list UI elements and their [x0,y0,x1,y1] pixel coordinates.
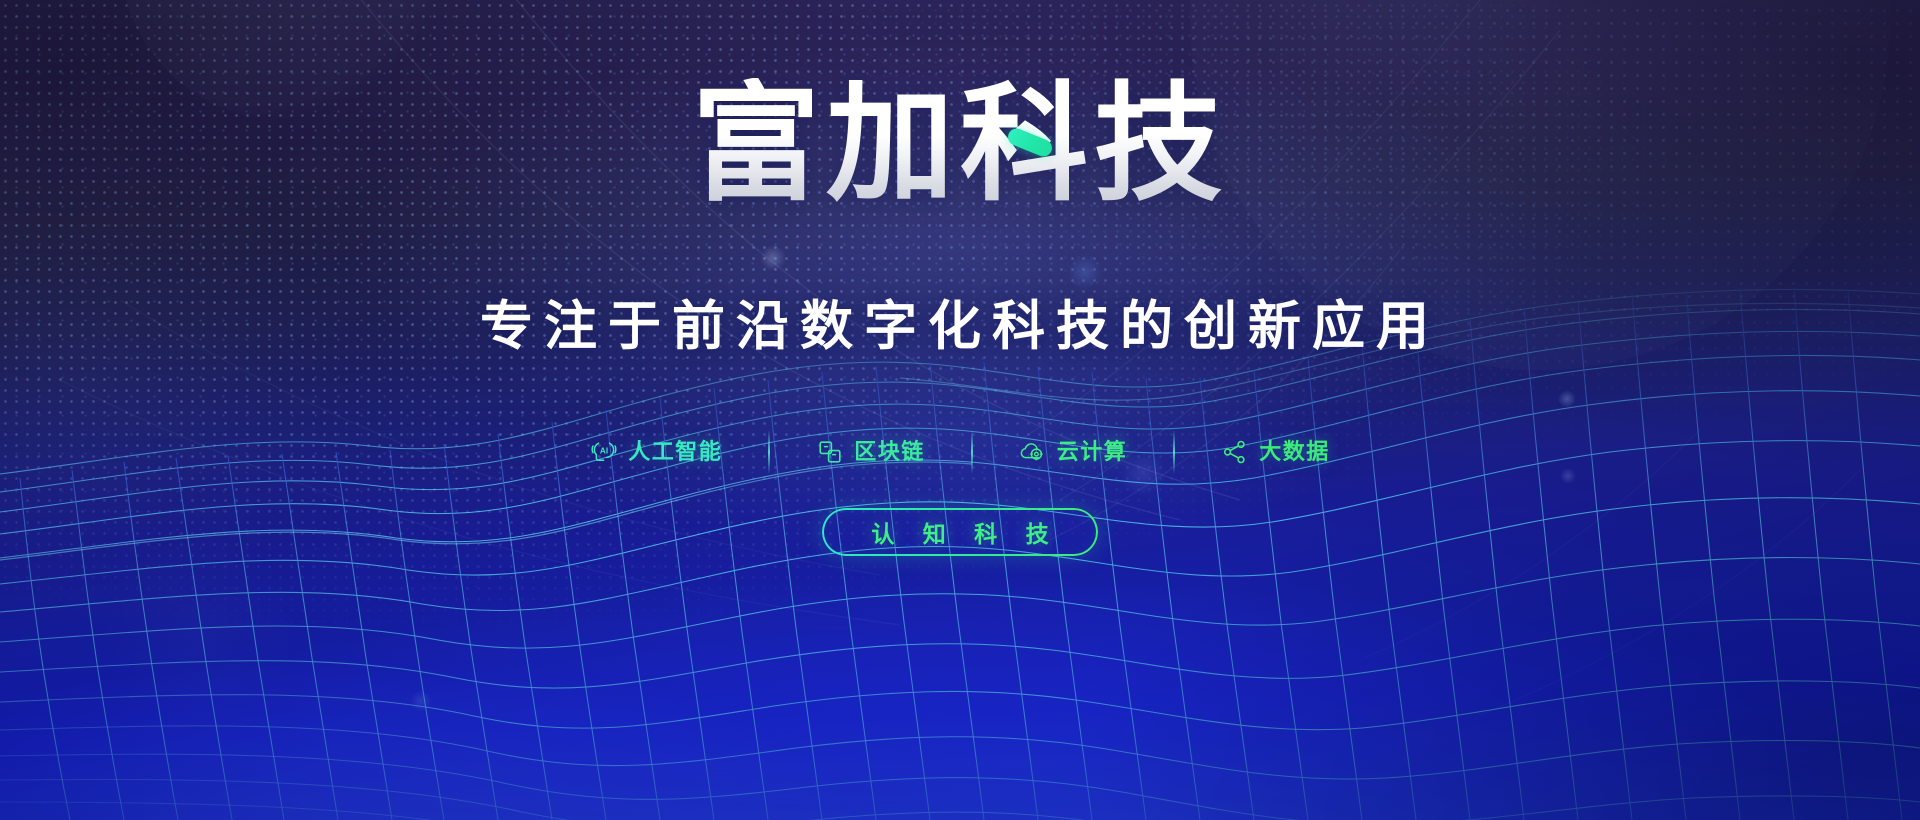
share-nodes-icon [1221,439,1248,466]
feature-tag-row: AI 人工智能 区块链 [0,430,1920,474]
feature-tag-cloud[interactable]: 云计算 [973,439,1174,466]
hero-content: 富加科技 专注于前沿数字化科技的创新应用 AI 人工智能 [0,0,1920,820]
feature-tag-label: 大数据 [1259,441,1330,463]
blockchain-icon [816,439,843,466]
badge-container: 认 知 科 技 [0,508,1920,556]
cloud-gear-icon [1019,439,1046,466]
brand-subtitle: 专注于前沿数字化科技的创新应用 [0,284,1920,360]
ai-head-icon: AI [590,439,617,466]
feature-tag-blockchain[interactable]: 区块链 [770,439,971,466]
brand-title: 富加科技 [0,78,1920,212]
feature-tag-ai[interactable]: AI 人工智能 [544,439,768,466]
hero-banner: 富加科技 专注于前沿数字化科技的创新应用 AI 人工智能 [0,0,1920,820]
brand-title-text: 富加科技 [692,73,1228,216]
svg-text:AI: AI [600,447,608,456]
cognitive-tech-badge[interactable]: 认 知 科 技 [822,508,1097,556]
feature-tag-bigdata[interactable]: 大数据 [1175,439,1376,466]
cognitive-tech-badge-label: 认 知 科 技 [860,515,1059,549]
feature-tag-label: 区块链 [854,441,925,463]
feature-tag-label: 人工智能 [628,441,722,463]
feature-tag-label: 云计算 [1057,441,1128,463]
